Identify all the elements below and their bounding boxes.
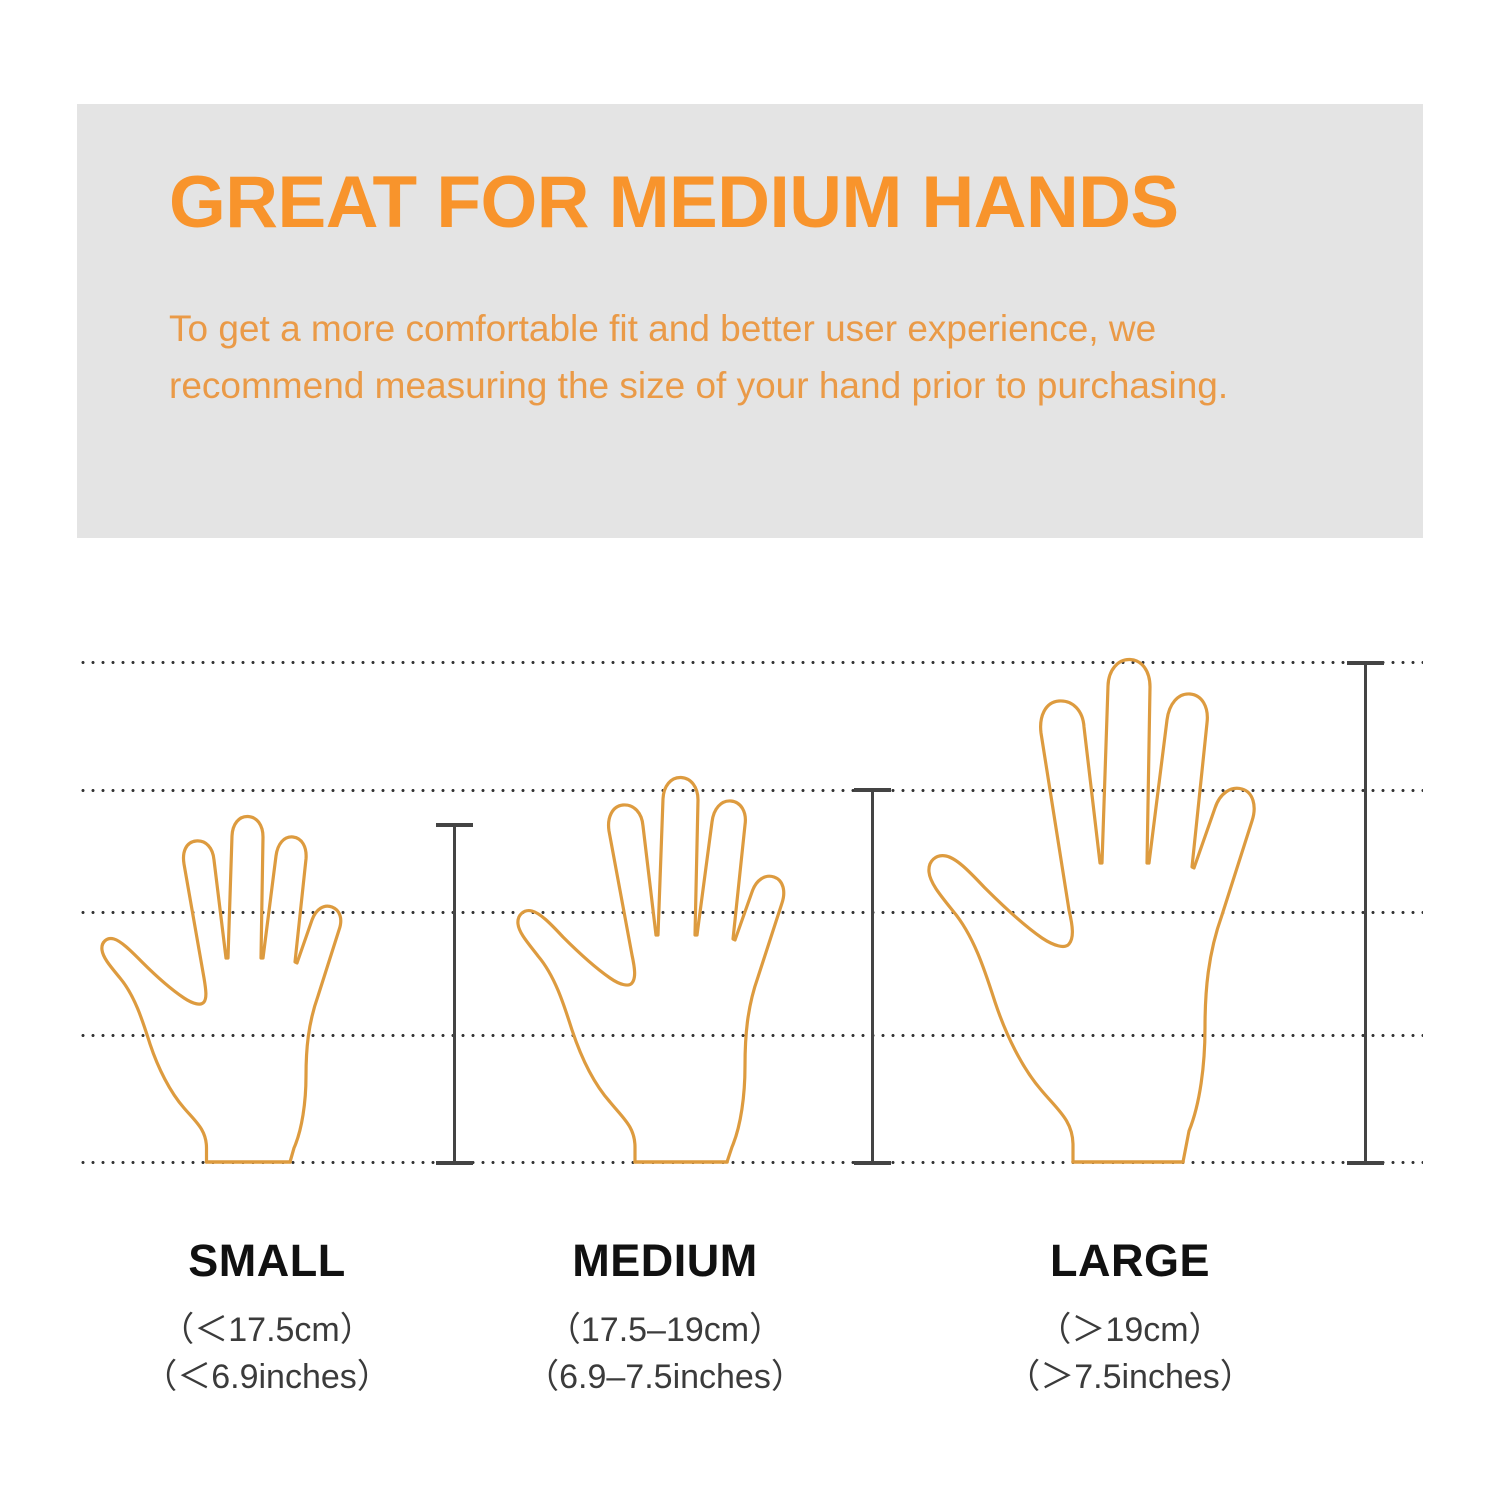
gridline-3	[78, 911, 1423, 914]
size-block-small: SMALL （＜17.5cm） （＜6.9inches）	[117, 1238, 417, 1401]
gridline-2	[78, 789, 1423, 792]
header-panel: GREAT FOR MEDIUM HANDS To get a more com…	[77, 104, 1423, 538]
measure-cap-bottom-small	[436, 1161, 473, 1165]
gridline-1	[78, 661, 1423, 664]
measure-cap-bottom-large	[1347, 1161, 1384, 1165]
hand-outline-medium	[495, 775, 825, 1170]
hand-outline-large	[905, 655, 1325, 1170]
size-label-large: LARGE	[980, 1238, 1280, 1283]
size-range-cm-large: （＞19cm）	[980, 1307, 1280, 1354]
size-range-in-medium: （6.9–7.5inches）	[515, 1354, 815, 1401]
size-label-medium: MEDIUM	[515, 1238, 815, 1283]
size-range-small: （＜17.5cm） （＜6.9inches）	[117, 1307, 417, 1401]
size-range-cm-small: （＜17.5cm）	[117, 1307, 417, 1354]
measure-bar-large	[1364, 661, 1367, 1165]
gridline-4	[78, 1034, 1423, 1037]
gridline-baseline	[78, 1161, 1423, 1164]
page-title: GREAT FOR MEDIUM HANDS	[169, 166, 1179, 239]
measure-cap-top-medium	[854, 788, 891, 792]
size-range-in-large: （＞7.5inches）	[980, 1354, 1280, 1401]
size-range-medium: （17.5–19cm） （6.9–7.5inches）	[515, 1307, 815, 1401]
size-label-small: SMALL	[117, 1238, 417, 1283]
measure-cap-top-small	[436, 823, 473, 827]
hand-outline-small	[80, 800, 380, 1170]
header-description: To get a more comfortable fit and better…	[169, 300, 1289, 415]
measure-bar-small	[453, 823, 456, 1165]
measure-bar-medium	[871, 788, 874, 1165]
size-block-large: LARGE （＞19cm） （＞7.5inches）	[980, 1238, 1280, 1401]
measure-cap-bottom-medium	[854, 1161, 891, 1165]
size-block-medium: MEDIUM （17.5–19cm） （6.9–7.5inches）	[515, 1238, 815, 1401]
page-root: GREAT FOR MEDIUM HANDS To get a more com…	[0, 0, 1500, 1500]
size-range-large: （＞19cm） （＞7.5inches）	[980, 1307, 1280, 1401]
size-range-in-small: （＜6.9inches）	[117, 1354, 417, 1401]
measure-cap-top-large	[1347, 661, 1384, 665]
size-range-cm-medium: （17.5–19cm）	[515, 1307, 815, 1354]
